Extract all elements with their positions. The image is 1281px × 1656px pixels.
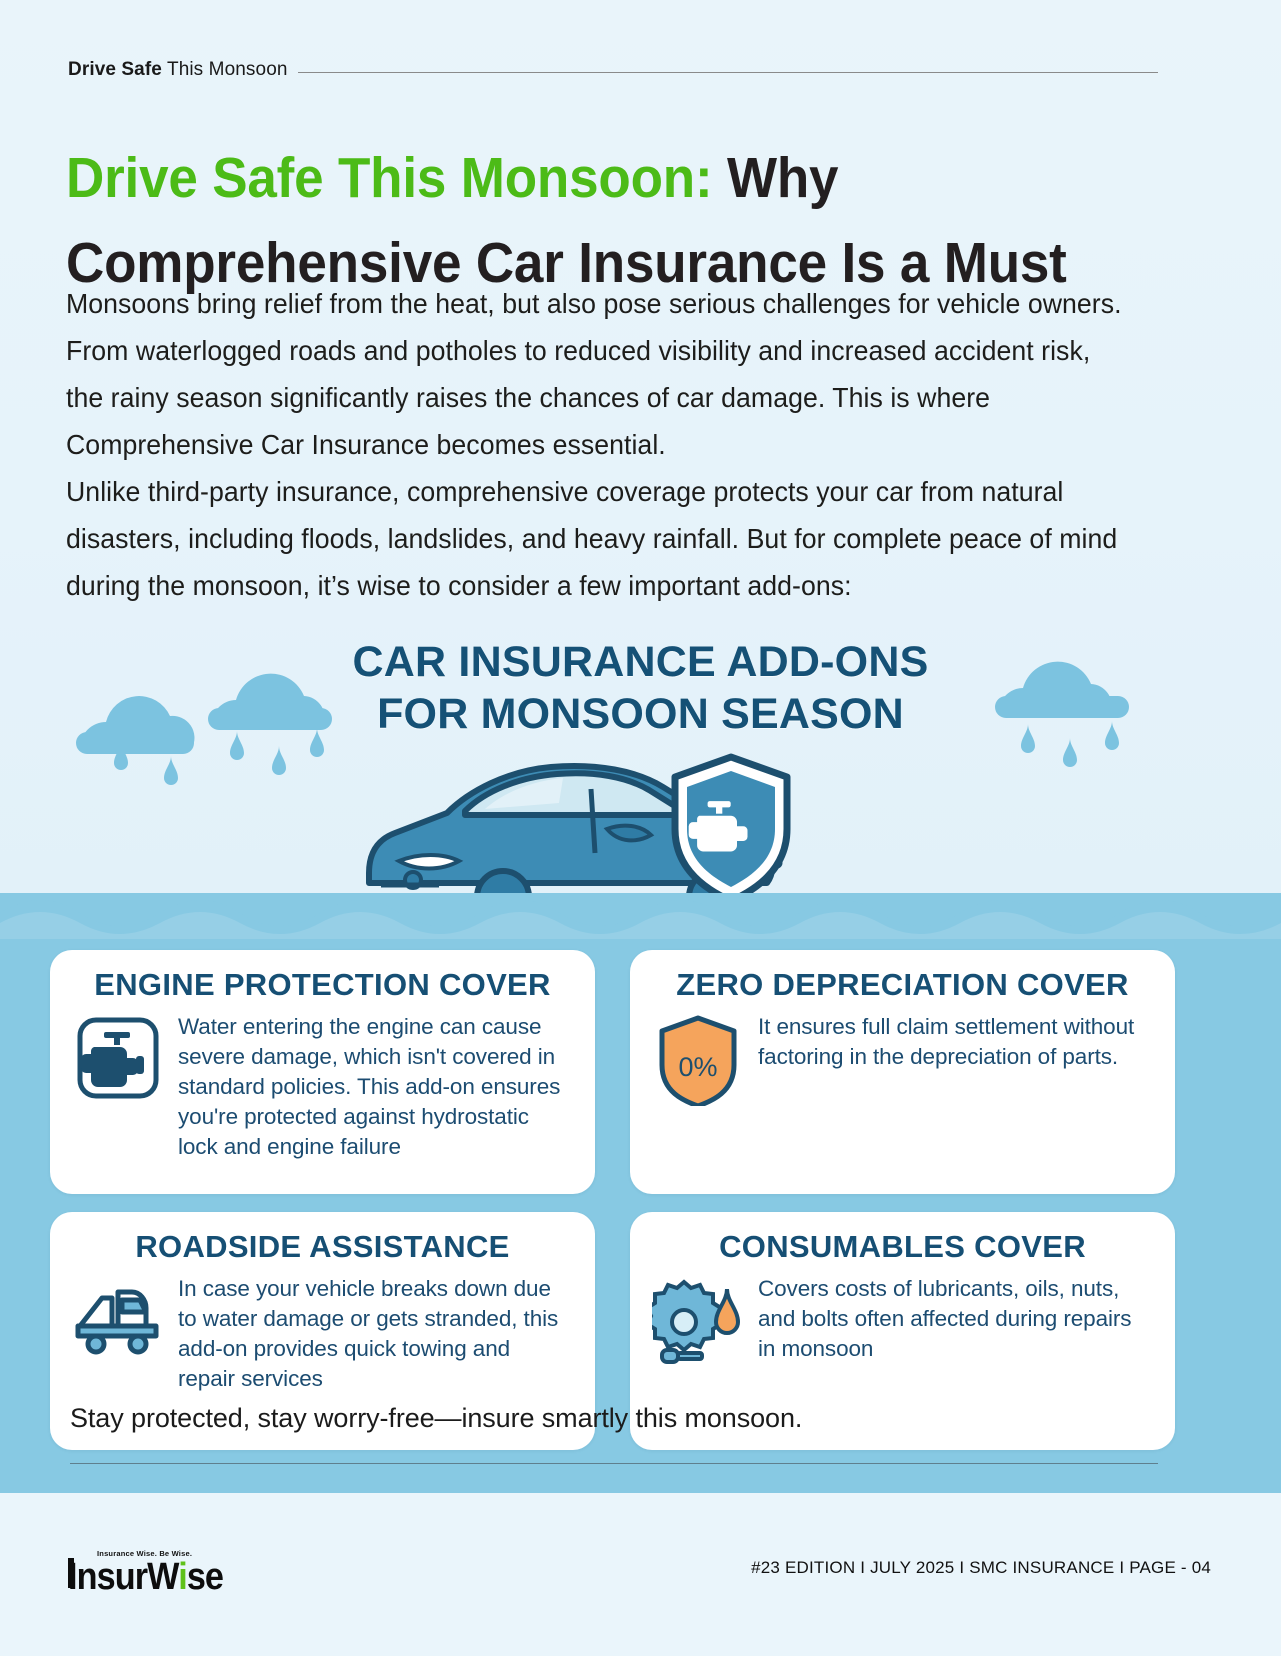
card-title: CONSUMABLES COVER	[652, 1230, 1153, 1264]
rain-cloud-icon	[985, 628, 1155, 778]
running-header: Drive Safe This Monsoon	[68, 57, 1158, 83]
tow-truck-icon	[72, 1274, 164, 1368]
closing-statement: Stay protected, stay worry-free—insure s…	[70, 1400, 1170, 1436]
headline-green: Drive Safe This Monsoon:	[66, 146, 712, 210]
card-text: In case your vehicle breaks down due to …	[178, 1274, 573, 1394]
intro-paragraph-1: Monsoons bring relief from the heat, but…	[66, 280, 1127, 468]
card-title: ROADSIDE ASSISTANCE	[72, 1230, 573, 1264]
addons-card-grid: ENGINE PROTECTION COVER Water entering t…	[50, 950, 1175, 1450]
logo-word-part3: se	[187, 1556, 223, 1598]
running-header-text: Drive Safe This Monsoon	[68, 59, 288, 81]
wave-decoration	[0, 879, 1281, 939]
card-body: Water entering the engine can cause seve…	[72, 1012, 573, 1162]
card-title: ZERO DEPRECIATION COVER	[652, 968, 1153, 1002]
card-text: Water entering the engine can cause seve…	[178, 1012, 573, 1162]
engine-icon	[72, 1012, 164, 1106]
card-zero-depreciation-cover[interactable]: ZERO DEPRECIATION COVER 0% It ensures fu…	[630, 950, 1175, 1194]
newsletter-page: Drive Safe This Monsoon Drive Safe This …	[0, 0, 1281, 1656]
page-footer: Insurance Wise. Be Wise. InsurWise #23 E…	[0, 1480, 1281, 1600]
rain-cloud-group-right	[985, 628, 1155, 783]
card-title: ENGINE PROTECTION COVER	[72, 968, 573, 1002]
card-text: Covers costs of lubricants, oils, nuts, …	[758, 1274, 1153, 1364]
footer-divider	[70, 1463, 1158, 1464]
logo-word-part2: W	[147, 1556, 178, 1598]
card-body: In case your vehicle breaks down due to …	[72, 1274, 573, 1394]
card-body: 0% It ensures full claim settlement with…	[652, 1012, 1153, 1106]
intro-paragraph-2: Unlike third-party insurance, comprehens…	[66, 468, 1127, 609]
logo-word-part1: Insur	[68, 1556, 147, 1598]
running-header-light: This Monsoon	[162, 59, 288, 80]
rain-cloud-group-left	[60, 628, 350, 793]
logo-wordmark: InsurWise	[68, 1558, 223, 1596]
card-body: Covers costs of lubricants, oils, nuts, …	[652, 1274, 1153, 1368]
card-text: It ensures full claim settlement without…	[758, 1012, 1153, 1072]
running-header-rule	[298, 72, 1158, 73]
running-header-bold: Drive Safe	[68, 59, 162, 80]
card-engine-protection-cover[interactable]: ENGINE PROTECTION COVER Water entering t…	[50, 950, 595, 1194]
gear-oil-drop-icon	[652, 1274, 744, 1368]
shield-zero-percent-icon: 0%	[652, 1012, 744, 1106]
edition-info: #23 EDITION I JULY 2025 I SMC INSURANCE …	[751, 1558, 1211, 1578]
rain-cloud-icon	[60, 628, 350, 788]
shield-zero-label: 0%	[678, 1052, 717, 1082]
